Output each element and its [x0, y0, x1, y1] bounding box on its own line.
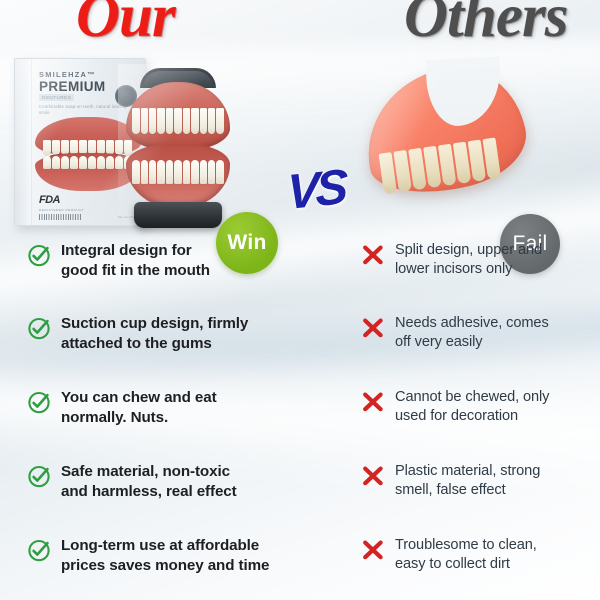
header-others: Others — [404, 0, 567, 47]
red-cross-icon — [360, 463, 386, 489]
box-brand-label: SMILEHZA™ — [39, 70, 96, 79]
box-spine — [15, 59, 32, 225]
list-item-label: Integral design for good fit in the mout… — [61, 241, 210, 281]
list-item: You can chew and eat normally. Nuts. — [26, 388, 217, 428]
model-stand — [134, 202, 222, 228]
red-cross-icon — [360, 315, 386, 341]
list-item: Plastic material, strong smell, false ef… — [360, 462, 540, 500]
hero-images: SMILEHZA™ PREMIUM DENTURES Comfortable s… — [0, 50, 600, 235]
lower-teeth — [132, 160, 224, 184]
list-item-label: Cannot be chewed, only used for decorati… — [395, 388, 549, 426]
box-tagline: Comfortable snap-on teeth, natural looki… — [39, 104, 127, 117]
list-item-label: Suction cup design, firmly attached to t… — [61, 314, 248, 354]
dental-model-image — [118, 64, 238, 228]
green-check-circle-icon — [26, 389, 52, 415]
box-model-label: PREMIUM — [39, 79, 106, 94]
fda-sublabel: REGISTERED PRODUCT — [39, 208, 84, 212]
list-item-label: Split design, upper and lower incisors o… — [395, 241, 542, 279]
list-item: Long-term use at affordable prices saves… — [26, 536, 269, 576]
list-item: Cannot be chewed, only used for decorati… — [360, 388, 549, 426]
veneer-shape — [354, 56, 534, 204]
list-item: Suction cup design, firmly attached to t… — [26, 314, 248, 354]
green-check-circle-icon — [26, 463, 52, 489]
fda-logo: FDA — [39, 194, 60, 206]
green-check-circle-icon — [26, 242, 52, 268]
box-subtitle: DENTURES — [39, 94, 74, 101]
model-upper-arch — [126, 82, 230, 150]
upper-teeth — [132, 108, 224, 134]
list-item-label: Long-term use at affordable prices saves… — [61, 536, 269, 576]
red-cross-icon — [360, 242, 386, 268]
list-item-label: You can chew and eat normally. Nuts. — [61, 388, 217, 428]
model-lower-arch — [126, 144, 230, 208]
list-item: Split design, upper and lower incisors o… — [360, 241, 542, 279]
list-item-label: Needs adhesive, comes off very easily — [395, 314, 549, 352]
competitor-veneer-image — [360, 56, 528, 206]
header-ours: Our — [76, 0, 175, 47]
list-item-label: Plastic material, strong smell, false ef… — [395, 462, 540, 500]
vs-marker: VS — [287, 159, 344, 221]
list-item: Troublesome to clean, easy to collect di… — [360, 536, 537, 574]
list-item: Safe material, non-toxic and harmless, r… — [26, 462, 237, 502]
list-item-label: Troublesome to clean, easy to collect di… — [395, 536, 537, 574]
list-item: Needs adhesive, comes off very easily — [360, 314, 549, 352]
red-cross-icon — [360, 537, 386, 563]
list-item-label: Safe material, non-toxic and harmless, r… — [61, 462, 237, 502]
red-cross-icon — [360, 389, 386, 415]
list-item: Integral design for good fit in the mout… — [26, 241, 210, 281]
win-badge: Win — [216, 212, 278, 274]
infographic-canvas: Our Others SMILEHZA™ PREMIUM DENTURES Co… — [0, 0, 600, 600]
green-check-circle-icon — [26, 537, 52, 563]
green-check-circle-icon — [26, 315, 52, 341]
barcode-icon — [39, 214, 81, 220]
